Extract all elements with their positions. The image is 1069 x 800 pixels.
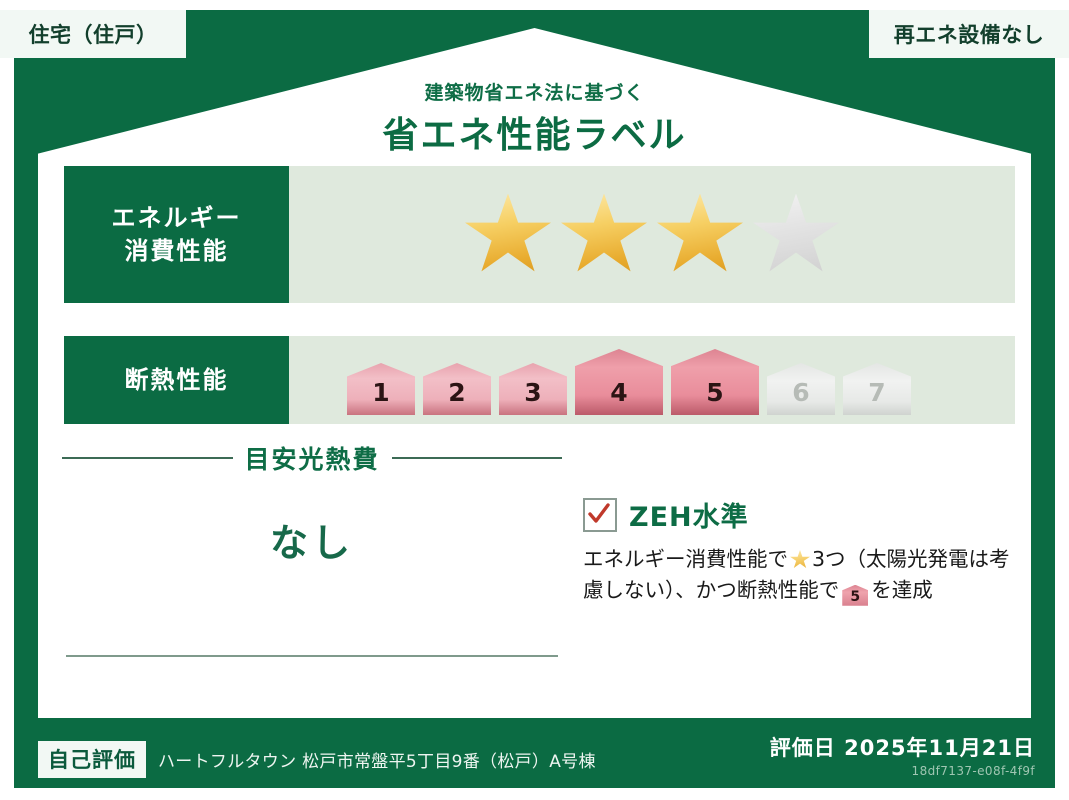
house-icon-level-6: 6 — [767, 363, 835, 415]
evaluation-id: 18df7137-e08f-4f9f — [770, 764, 1035, 778]
evaluation-date: 評価日 2025年11月21日 — [770, 732, 1035, 762]
zeh-desc-star-count: 3つ（太陽光発電 — [812, 547, 969, 571]
energy-performance-label: 住宅（住戸） 再エネ設備なし 建築物省エネ法に基づく 省エネ性能ラベル エネルギ… — [0, 0, 1069, 800]
insulation-level-slot-1: 1 — [347, 345, 415, 415]
energy-label-line1: エネルギー — [112, 202, 242, 234]
utility-cost-bottom-divider — [66, 655, 558, 657]
energy-performance-label-cell: エネルギー 消費性能 — [64, 166, 289, 303]
insulation-level-slot-5: 5 — [671, 345, 759, 415]
insulation-level-slot-6: 6 — [767, 345, 835, 415]
star-icon-4 — [753, 194, 839, 276]
house-icon-level-4: 4 — [575, 349, 663, 415]
zeh-description: エネルギー消費性能で3つ（太陽光発電は考慮しない）、かつ断熱性能で5を達成 — [583, 544, 1013, 606]
house-icon-level-1: 1 — [347, 363, 415, 415]
zeh-desc-part3: を達成 — [871, 578, 933, 602]
house-icon-level-2: 2 — [423, 363, 491, 415]
insulation-level-slot-2: 2 — [423, 345, 491, 415]
footer-right: 評価日 2025年11月21日 18df7137-e08f-4f9f — [770, 732, 1035, 778]
check-icon — [587, 502, 611, 526]
house-icon-level-5: 5 — [671, 349, 759, 415]
tab-renewable-energy: 再エネ設備なし — [869, 10, 1069, 58]
insulation-performance-label-cell: 断熱性能 — [64, 336, 289, 424]
energy-star-rating — [289, 166, 1015, 303]
house-icon-level-7: 7 — [843, 363, 911, 415]
tab-renewable-energy-label: 再エネ設備なし — [894, 19, 1045, 49]
building-name: ハートフルタウン 松戸市常盤平5丁目9番（松戸）A号棟 — [158, 747, 596, 772]
zeh-desc-part1: エネルギー消費性能で — [583, 547, 788, 571]
insulation-level-slot-4: 4 — [575, 345, 663, 415]
label-subtitle: 建築物省エネ法に基づく — [0, 78, 1069, 105]
divider-left — [62, 457, 233, 459]
house-icon-level-3: 3 — [499, 363, 567, 415]
star-icon-inline — [790, 550, 810, 569]
insulation-level-slot-7: 7 — [843, 345, 911, 415]
insulation-label: 断熱性能 — [125, 364, 229, 396]
zeh-header: ZEH水準 — [583, 495, 1013, 534]
tab-building-type: 住宅（住戸） — [0, 10, 186, 58]
zeh-title: ZEH水準 — [629, 495, 749, 534]
insulation-level-slot-3: 3 — [499, 345, 567, 415]
star-icon-2 — [561, 194, 647, 276]
label-title: 省エネ性能ラベル — [0, 106, 1069, 158]
tab-building-type-label: 住宅（住戸） — [29, 19, 158, 49]
zeh-checkbox[interactable] — [583, 498, 617, 532]
star-icon-3 — [657, 194, 743, 276]
energy-performance-row: エネルギー 消費性能 — [64, 166, 1015, 303]
utility-cost-value: なし — [62, 512, 562, 567]
self-evaluation-badge: 自己評価 — [38, 741, 146, 778]
utility-cost-title: 目安光熱費 — [245, 440, 380, 476]
star-icon-1 — [465, 194, 551, 276]
insulation-level-scale: 1 2 3 4 5 6 7 — [289, 336, 1015, 424]
energy-label-line2: 消費性能 — [125, 235, 229, 267]
divider-right — [392, 457, 563, 459]
zeh-standard-block: ZEH水準 エネルギー消費性能で3つ（太陽光発電は考慮しない）、かつ断熱性能で5… — [583, 495, 1013, 606]
utility-cost-header: 目安光熱費 — [62, 440, 562, 476]
footer-left: 自己評価 ハートフルタウン 松戸市常盤平5丁目9番（松戸）A号棟 — [38, 741, 596, 778]
house-icon-inline: 5 — [842, 585, 868, 606]
insulation-performance-row: 断熱性能 1 2 3 4 5 6 7 — [64, 336, 1015, 424]
